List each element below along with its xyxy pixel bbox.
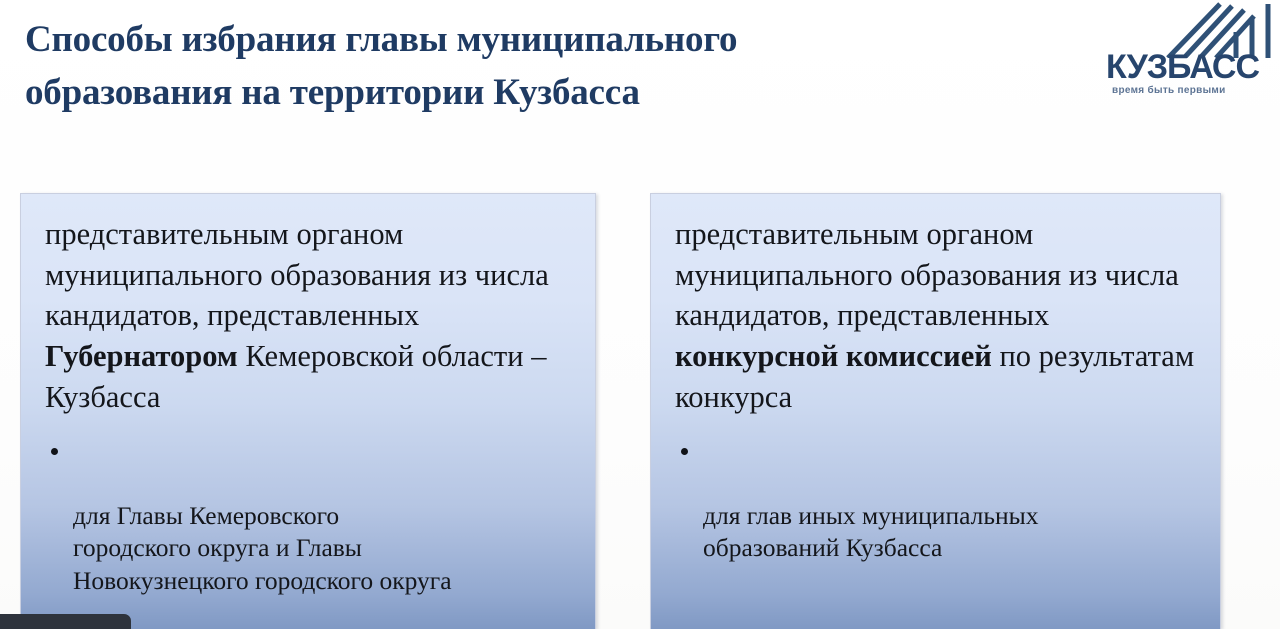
bullet-dot-icon bbox=[681, 448, 688, 455]
video-overlay-bar bbox=[0, 614, 131, 629]
card-body-text: представительным органом муниципального … bbox=[675, 214, 1198, 418]
card-bullet-list: для глав иных муниципальных образований … bbox=[675, 435, 1198, 566]
card-bullet-list: для Главы Кемеровского городского округа… bbox=[45, 435, 573, 598]
kuzbass-logo: КУЗБАСС время быть первыми bbox=[1106, 2, 1278, 106]
presentation-slide: Способы избрания главы муниципального об… bbox=[0, 0, 1280, 629]
logo-tagline: время быть первыми bbox=[1112, 86, 1278, 96]
card-representative-body-governor: представительным органом муниципального … bbox=[20, 193, 596, 629]
card-columns: представительным органом муниципального … bbox=[0, 193, 1280, 629]
list-item: для глав иных муниципальных образований … bbox=[675, 435, 1198, 566]
page-title: Способы избрания главы муниципального об… bbox=[25, 14, 1025, 119]
card-body-text: представительным органом муниципального … bbox=[45, 214, 573, 418]
logo-wordmark: КУЗБАСС bbox=[1106, 50, 1278, 84]
bullet-dot-icon bbox=[51, 448, 58, 455]
list-item-label: для глав иных муниципальных образований … bbox=[703, 501, 1039, 563]
list-item: для Главы Кемеровского городского округа… bbox=[45, 435, 573, 598]
list-item-label: для Главы Кемеровского городского округа… bbox=[73, 501, 452, 595]
slide-header: Способы избрания главы муниципального об… bbox=[0, 0, 1280, 150]
card-representative-body-competition-commission: представительным органом муниципального … bbox=[650, 193, 1221, 629]
